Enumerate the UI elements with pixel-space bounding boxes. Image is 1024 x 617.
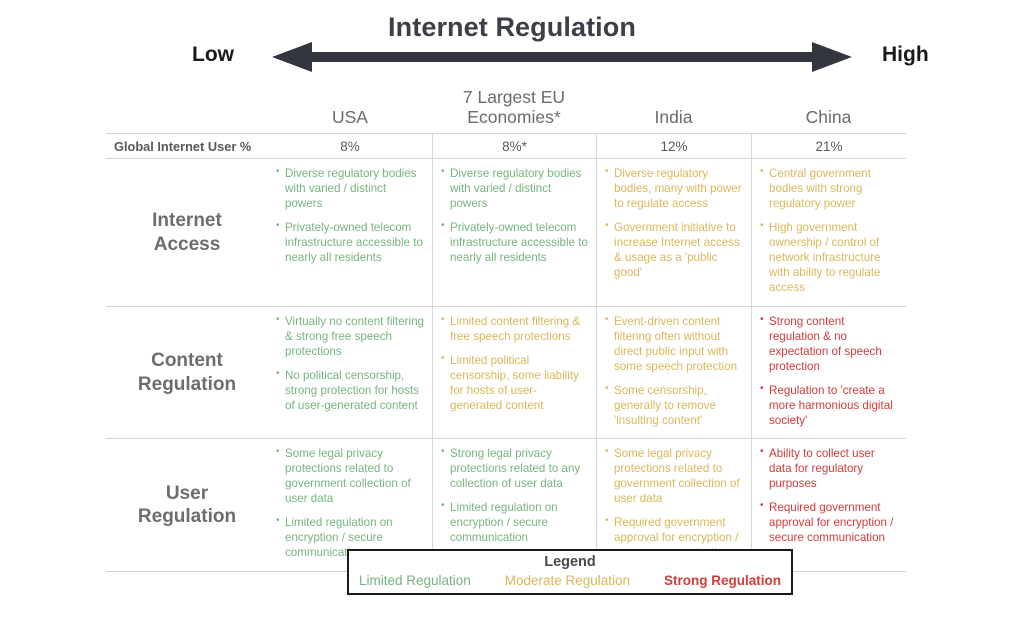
header-corner [106,84,268,133]
list-item: Required government approval for encrypt… [760,501,898,546]
comparison-table: USA 7 Largest EU Economies* India China … [106,84,906,572]
list-item: Government initiative to increase Intern… [605,221,743,281]
list-item: Event-driven content filtering often wit… [605,315,743,375]
list-item: Diverse regulatory bodies with varied / … [276,167,424,212]
row-label-line2: Regulation [138,505,236,529]
row-label-internet-access: Internet Access [106,159,268,306]
legend-item-limited: Limited Regulation [359,573,471,588]
row-label-content-regulation: Content Regulation [106,307,268,439]
row-label-global-internet-user-pct: Global Internet User % [106,134,268,158]
page-title: Internet Regulation [0,12,1024,43]
list-item: Limited regulation on encryption / secur… [441,501,588,546]
list-item: Limited political censorship, some liabi… [441,354,588,414]
bullet-list: Diverse regulatory bodies, many with pow… [605,167,743,281]
bullet-list: Some legal privacy protections related t… [276,447,424,561]
row-label-line2: Access [152,233,222,257]
axis-label-low: Low [192,43,234,67]
list-item: Strong content regulation & no expectati… [760,315,898,375]
legend: Legend Limited Regulation Moderate Regul… [347,549,793,595]
list-item: Central government bodies with strong re… [760,167,898,212]
list-item: Regulation to 'create a more harmonious … [760,384,898,429]
bullet-list: Strong content regulation & no expectati… [760,315,898,429]
double-arrow-icon [272,42,852,72]
row-label-line1: Content [138,349,236,373]
cell-internet-access-eu: Diverse regulatory bodies with varied / … [432,159,596,306]
slide-root: Internet Regulation Low High USA 7 Large… [0,0,1024,617]
list-item: Virtually no content filtering & strong … [276,315,424,360]
bullet-list: Diverse regulatory bodies with varied / … [276,167,424,266]
legend-items: Limited Regulation Moderate Regulation S… [349,571,791,588]
axis-label-high: High [882,43,929,67]
cell-content-regulation-india: Event-driven content filtering often wit… [596,307,751,439]
list-item: Privately-owned telecom infrastructure a… [276,221,424,266]
column-header-usa: USA [268,84,432,133]
list-item: Privately-owned telecom infrastructure a… [441,221,588,266]
row-label-line1: User [138,482,236,506]
table-row-global-internet-user-pct: Global Internet User % 8% 8%* 12% 21% [106,133,906,159]
column-header-eu: 7 Largest EU Economies* [432,84,596,133]
arrow-head-left-icon [272,42,312,72]
bullet-list: Virtually no content filtering & strong … [276,315,424,414]
row-label-user-regulation: User Regulation [106,439,268,571]
cell-internet-access-china: Central government bodies with strong re… [751,159,906,306]
column-header-china: China [751,84,906,133]
legend-title: Legend [349,554,791,571]
pct-value-eu: 8%* [432,134,596,158]
table-header-row: USA 7 Largest EU Economies* India China [106,84,906,133]
arrow-shaft [310,52,814,62]
list-item: Some censorship, generally to remove 'in… [605,384,743,429]
list-item: Limited content filtering & free speech … [441,315,588,345]
pct-value-usa: 8% [268,134,432,158]
bullet-list: Ability to collect user data for regulat… [760,447,898,546]
cell-content-regulation-china: Strong content regulation & no expectati… [751,307,906,439]
list-item: Some legal privacy protections related t… [276,447,424,507]
cell-internet-access-india: Diverse regulatory bodies, many with pow… [596,159,751,306]
table-row: Content Regulation Virtually no content … [106,307,906,440]
column-header-india: India [596,84,751,133]
cell-internet-access-usa: Diverse regulatory bodies with varied / … [268,159,432,306]
pct-value-india: 12% [596,134,751,158]
bullet-list: Limited content filtering & free speech … [441,315,588,414]
bullet-list: Strong legal privacy protections related… [441,447,588,546]
list-item: Ability to collect user data for regulat… [760,447,898,492]
legend-item-moderate: Moderate Regulation [505,573,630,588]
list-item: Diverse regulatory bodies with varied / … [441,167,588,212]
legend-item-strong: Strong Regulation [664,573,781,588]
cell-content-regulation-eu: Limited content filtering & free speech … [432,307,596,439]
list-item: Some legal privacy protections related t… [605,447,743,507]
cell-content-regulation-usa: Virtually no content filtering & strong … [268,307,432,439]
table-row: Internet Access Diverse regulatory bodie… [106,159,906,307]
arrow-head-right-icon [812,42,852,72]
list-item: No political censorship, strong protecti… [276,369,424,414]
column-header-eu-line2: Economies* [463,108,565,128]
bullet-list: Event-driven content filtering often wit… [605,315,743,429]
list-item: Strong legal privacy protections related… [441,447,588,492]
pct-value-china: 21% [751,134,906,158]
row-label-line1: Internet [152,209,222,233]
bullet-list: Diverse regulatory bodies with varied / … [441,167,588,266]
list-item: Diverse regulatory bodies, many with pow… [605,167,743,212]
list-item: High government ownership / control of n… [760,221,898,296]
bullet-list: Central government bodies with strong re… [760,167,898,296]
row-label-line2: Regulation [138,373,236,397]
bullet-list: Some legal privacy protections related t… [605,447,743,561]
column-header-eu-line1: 7 Largest EU [463,88,565,108]
